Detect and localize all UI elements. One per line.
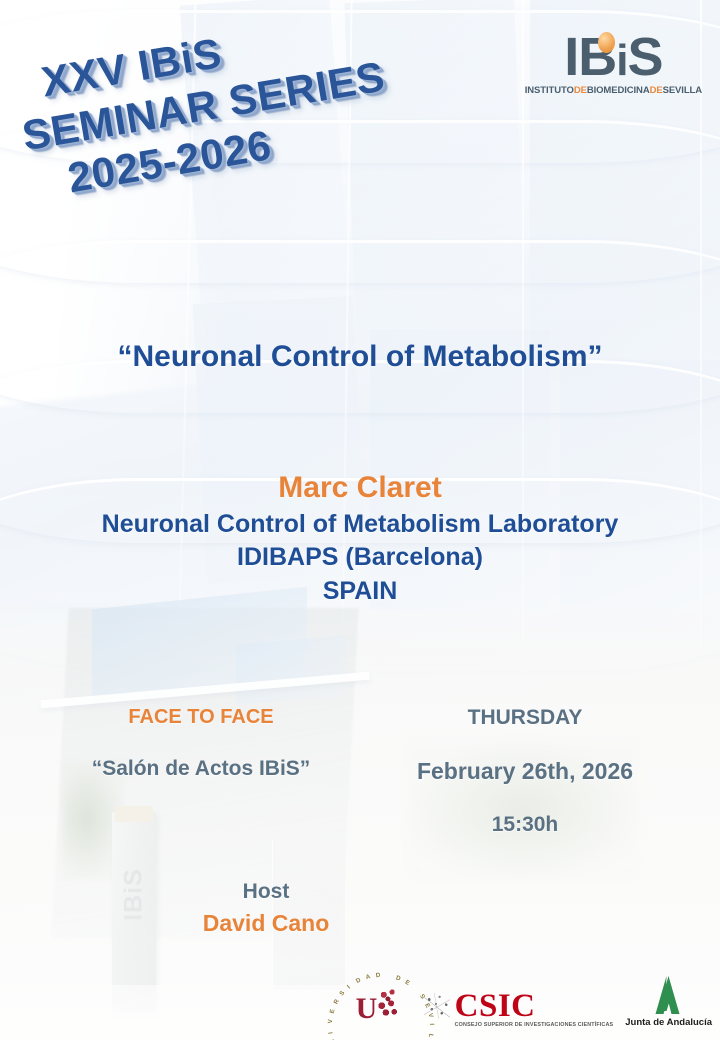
attendance-mode-label: FACE TO FACE bbox=[36, 706, 366, 729]
universidad-u-glyph: U bbox=[356, 992, 378, 1026]
seminar-poster: IBiS IBiS INSTITUTODEBIOMEDICINADESEVILL… bbox=[0, 0, 720, 1040]
schedule-time: 15:30h bbox=[360, 813, 690, 837]
footer-logo-row: UNIVERSIDAD DE SEVILLA U CSIC CONSEJO SU… bbox=[350, 970, 712, 1028]
csic-wordmark: CSIC bbox=[455, 991, 614, 1021]
ibis-logo-tagline: INSTITUTODEBIOMEDICINADESEVILLA bbox=[525, 86, 702, 96]
host-label: Host bbox=[156, 880, 376, 904]
universidad-de-sevilla-logo: UNIVERSIDAD DE SEVILLA U bbox=[350, 970, 412, 1028]
csic-logo: CSIC CONSEJO SUPERIOR DE INVESTIGACIONES… bbox=[424, 991, 614, 1028]
schedule-column: THURSDAY February 26th, 2026 15:30h bbox=[360, 706, 690, 837]
tagline-part-3: SEVILLA bbox=[663, 85, 702, 96]
host-name: David Cano bbox=[156, 910, 376, 937]
speaker-country: SPAIN bbox=[0, 575, 720, 609]
schedule-weekday: THURSDAY bbox=[360, 706, 690, 730]
ibis-logo: IBiS INSTITUTODEBIOMEDICINADESEVILLA bbox=[525, 30, 702, 96]
ibis-logo-mark-suffix: S bbox=[627, 27, 662, 87]
venue-room-label: “Salón de Actos IBiS” bbox=[36, 757, 366, 781]
speaker-name: Marc Claret bbox=[0, 468, 720, 508]
speaker-laboratory: Neuronal Control of Metabolism Laborator… bbox=[0, 508, 720, 542]
host-block: Host David Cano bbox=[156, 880, 376, 937]
csic-subtitle: CONSEJO SUPERIOR DE INVESTIGACIONES CIEN… bbox=[455, 1022, 614, 1028]
junta-de-andalucia-logo: Junta de Andalucía bbox=[625, 975, 712, 1028]
ibis-logo-mark: IBiS bbox=[525, 30, 702, 84]
ibis-logo-mark-i: i bbox=[616, 36, 627, 85]
venue-column: FACE TO FACE “Salón de Actos IBiS” bbox=[36, 706, 366, 781]
junta-wordmark: Junta de Andalucía bbox=[625, 1017, 712, 1028]
speaker-institution: IDIBAPS (Barcelona) bbox=[0, 541, 720, 575]
universidad-crest-icon bbox=[376, 988, 402, 1022]
series-title: XXV IBiS SEMINAR SERIES 2025-2026 bbox=[38, 2, 396, 204]
ibis-logo-orange-dot-icon bbox=[598, 32, 615, 53]
junta-a-icon bbox=[646, 975, 692, 1015]
schedule-date: February 26th, 2026 bbox=[360, 758, 690, 785]
talk-title: “Neuronal Control of Metabolism” bbox=[0, 340, 720, 374]
speaker-block: Marc Claret Neuronal Control of Metaboli… bbox=[0, 468, 720, 608]
